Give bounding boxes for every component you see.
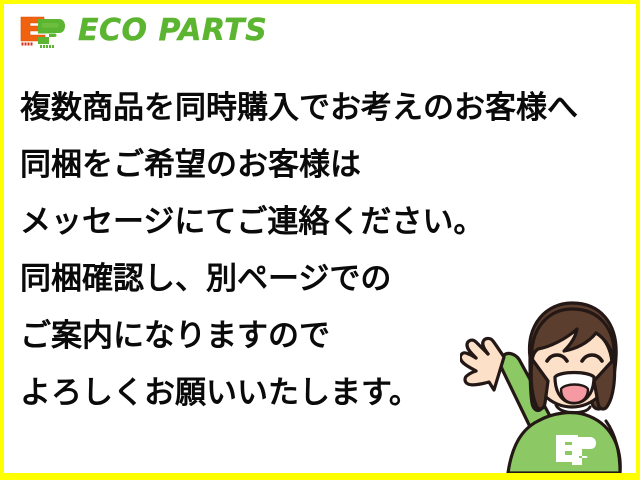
brand-wordmark: ECO PARTS: [78, 16, 267, 46]
message-line: 複数商品を同時購入でお考えのお客様へ: [20, 80, 620, 137]
banner-border-right: [636, 0, 640, 480]
eco-parts-logo-icon: [18, 13, 68, 49]
waving-woman-illustration: [460, 295, 636, 473]
message-line: 同梱をご希望のお客様は: [20, 137, 620, 194]
banner-border-bottom: [0, 473, 640, 480]
message-line: メッセージにてご連絡ください。: [20, 194, 620, 251]
banner-border-top: [0, 0, 640, 4]
banner-border-left: [0, 0, 4, 480]
brand-header: ECO PARTS: [18, 12, 267, 50]
eco-parts-notice-banner: ECO PARTS 複数商品を同時購入でお考えのお客様へ 同梱をご希望のお客様は…: [0, 0, 640, 480]
